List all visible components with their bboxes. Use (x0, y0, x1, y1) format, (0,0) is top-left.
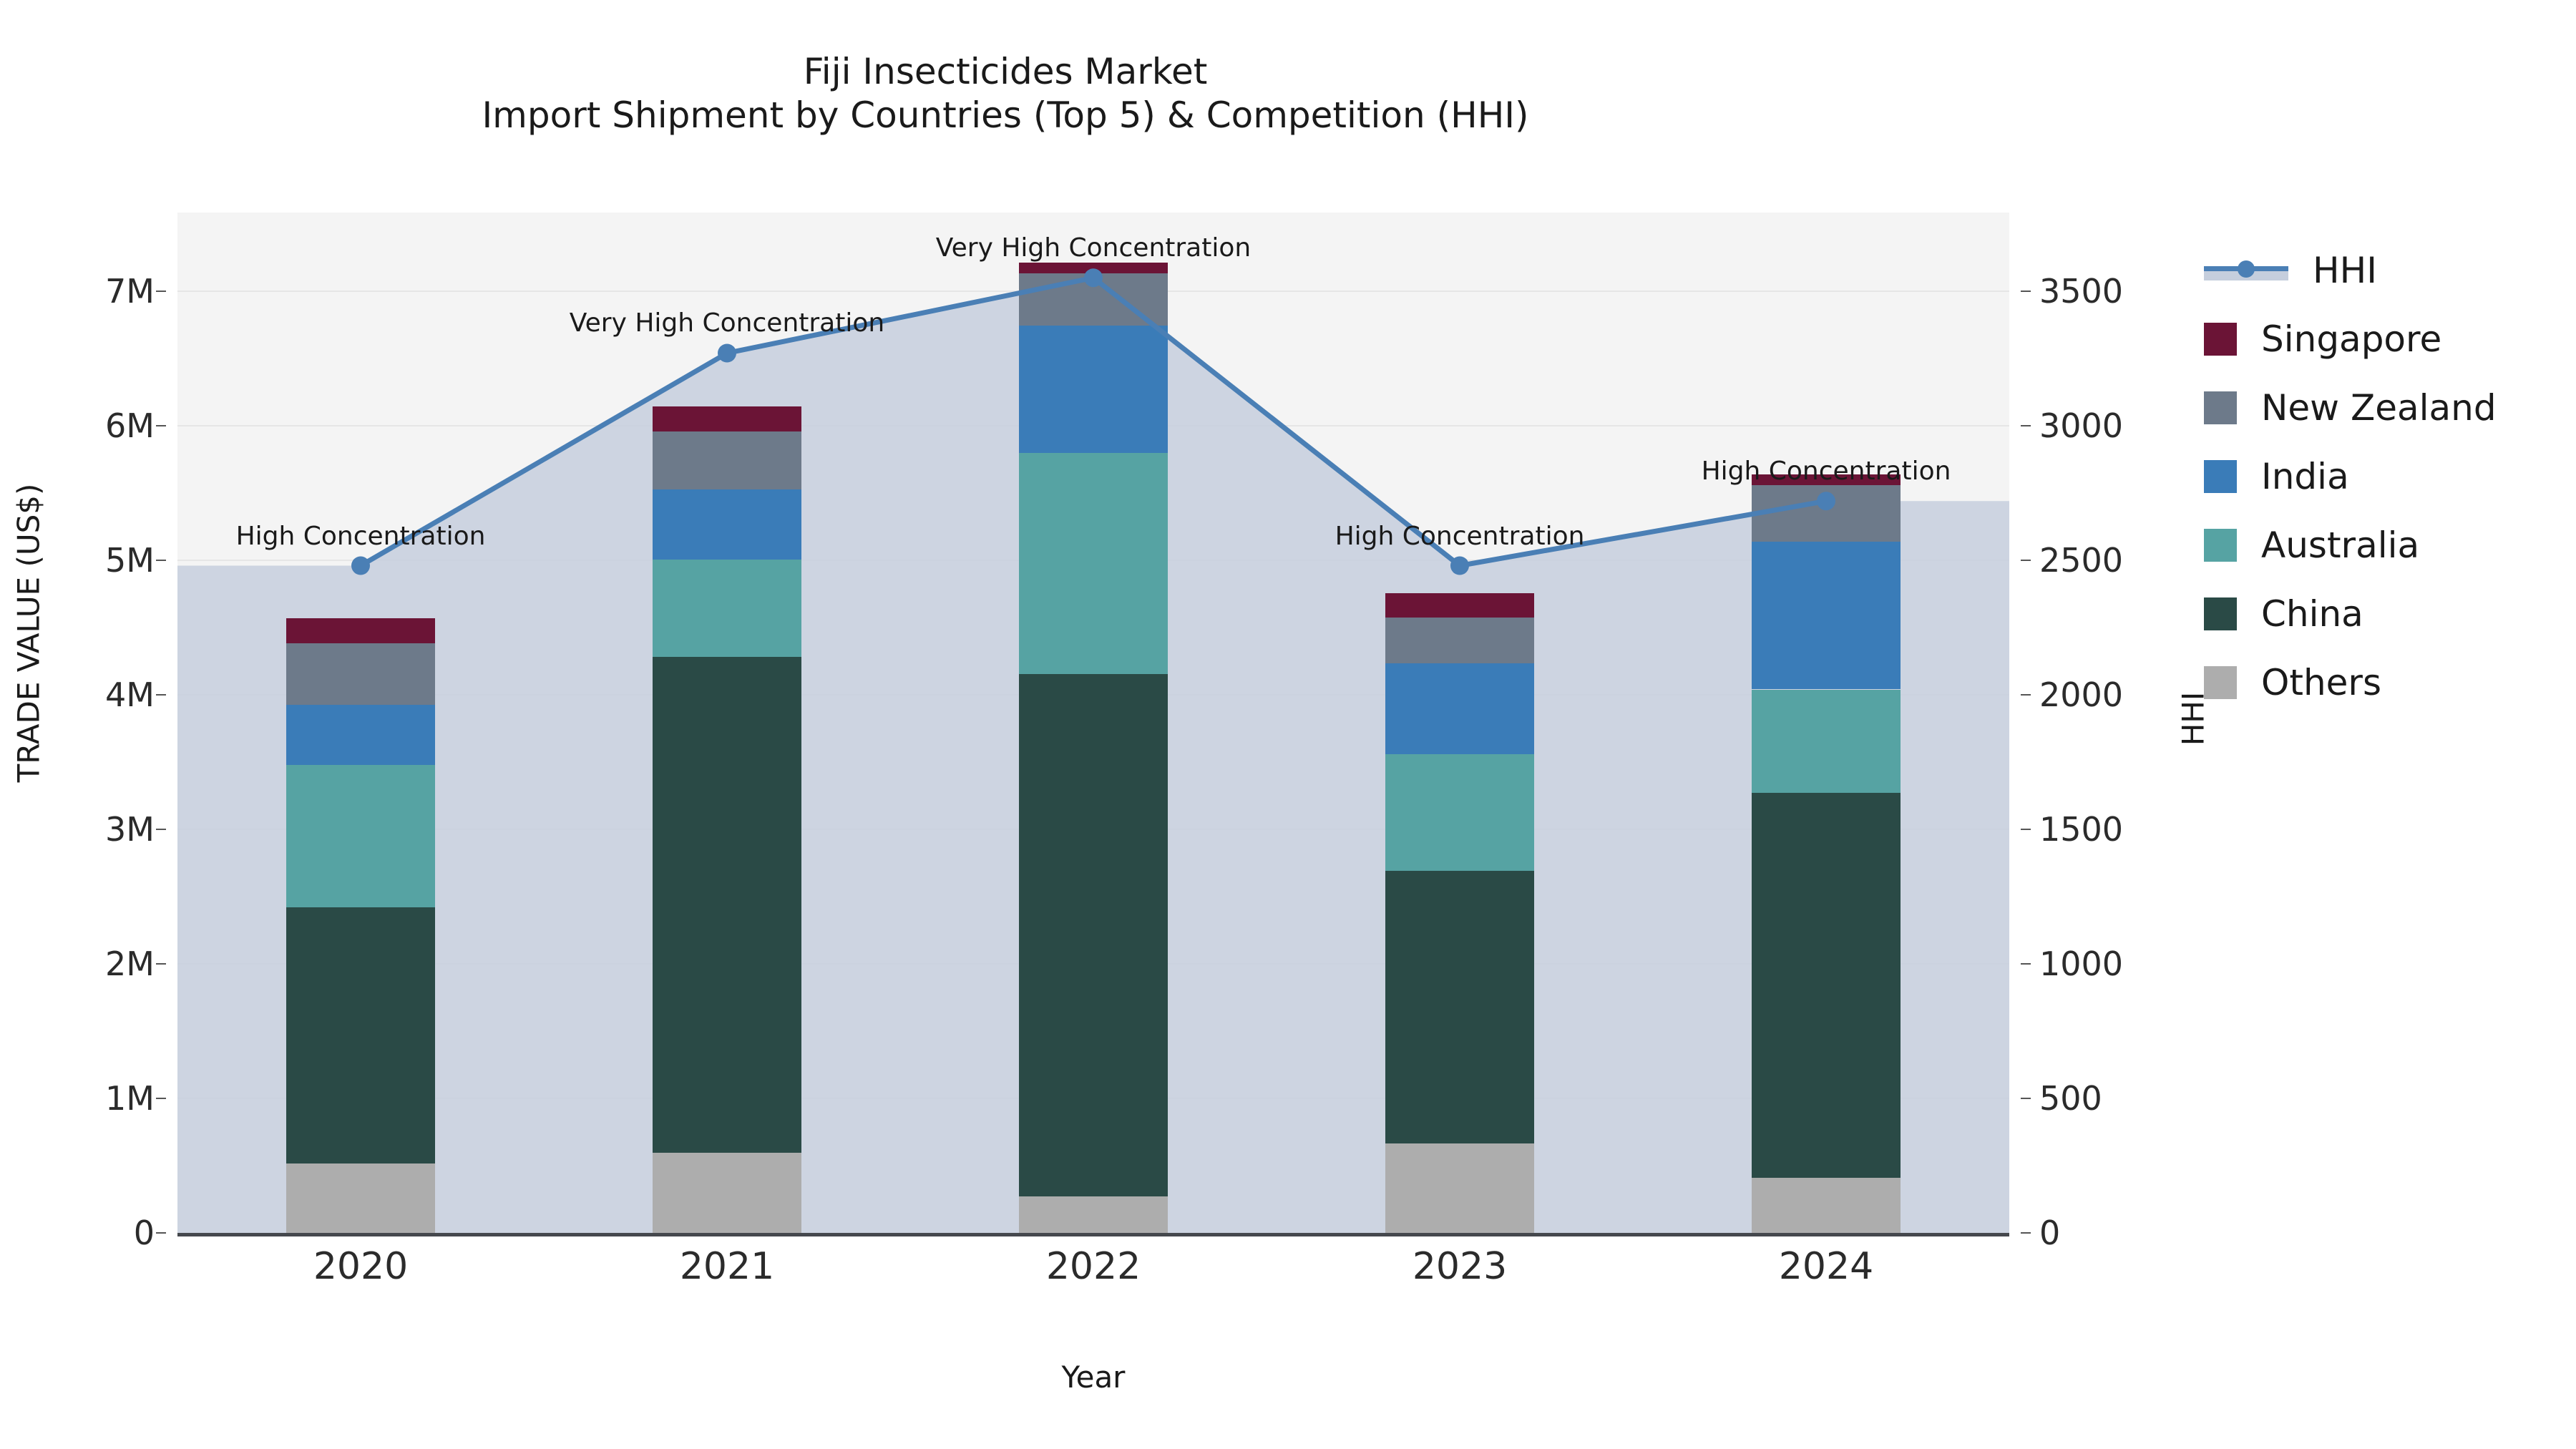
title-line-1: Fiji Insecticides Market (0, 50, 2011, 94)
y-left-tick-label: 2M (105, 945, 155, 983)
y-right-tickmark (2021, 694, 2031, 696)
legend-line-marker (2204, 254, 2288, 287)
legend-label: China (2261, 593, 2363, 635)
y-right-tickmark (2021, 291, 2031, 292)
legend-label: Others (2261, 662, 2381, 703)
legend-item-india[interactable]: India (2204, 442, 2576, 511)
y-right-tick-label: 1500 (2039, 810, 2123, 849)
y-left-tickmark (156, 1232, 166, 1234)
legend-item-others[interactable]: Others (2204, 648, 2576, 717)
legend-label: HHI (2313, 250, 2377, 291)
y-left-tick-label: 7M (105, 272, 155, 311)
y-left-tick-label: 3M (105, 810, 155, 849)
x-axis-ticks: 20202021202220232024 (177, 1245, 2009, 1302)
y-left-tickmark (156, 694, 166, 696)
x-tick-label-2023: 2023 (1413, 1245, 1507, 1288)
y-left-tick-label: 1M (105, 1079, 155, 1118)
legend-swatch (2204, 391, 2237, 424)
x-tick-label-2021: 2021 (680, 1245, 774, 1288)
legend-item-singapore[interactable]: Singapore (2204, 305, 2576, 374)
concentration-annotation: High Concentration (1702, 457, 1951, 486)
legend-swatch (2204, 323, 2237, 356)
y-left-tick-label: 6M (105, 406, 155, 445)
y-right-tick-label: 1000 (2039, 945, 2123, 983)
legend-label: India (2261, 456, 2349, 497)
y-left-tickmark (156, 829, 166, 830)
y-right-tickmark (2021, 963, 2031, 965)
chart-title: Fiji Insecticides Market Import Shipment… (0, 50, 2011, 137)
y-left-tick-label: 0 (134, 1214, 155, 1252)
concentration-annotation: High Concentration (1335, 522, 1585, 551)
y-right-tickmark (2021, 1098, 2031, 1099)
y-right-tick-label: 2500 (2039, 541, 2123, 580)
concentration-annotation: Very High Concentration (570, 308, 884, 338)
y-left-tickmark (156, 560, 166, 561)
legend-swatch (2204, 597, 2237, 630)
y-left-tickmark (156, 291, 166, 292)
y-left-tick-label: 4M (105, 675, 155, 714)
y-axis-right-ticks: 0500100015002000250030003500 (2021, 213, 2192, 1233)
y-left-tickmark (156, 963, 166, 965)
y-left-tick-label: 5M (105, 541, 155, 580)
title-line-2: Import Shipment by Countries (Top 5) & C… (0, 94, 2011, 137)
y-right-tickmark (2021, 560, 2031, 561)
y-right-tickmark (2021, 829, 2031, 830)
y-right-tick-label: 0 (2039, 1214, 2060, 1252)
legend: HHISingaporeNew ZealandIndiaAustraliaChi… (2204, 236, 2576, 717)
y-right-tickmark (2021, 425, 2031, 426)
legend-label: Singapore (2261, 318, 2441, 360)
annotation-layer: High ConcentrationVery High Concentratio… (177, 213, 2009, 1233)
legend-item-china[interactable]: China (2204, 580, 2576, 648)
concentration-annotation: High Concentration (236, 522, 486, 551)
y-right-tickmark (2021, 1232, 2031, 1234)
y-right-tick-label: 3000 (2039, 406, 2123, 445)
y-right-tick-label: 500 (2039, 1079, 2102, 1118)
x-tick-label-2024: 2024 (1779, 1245, 1873, 1288)
legend-swatch (2204, 460, 2237, 493)
y-right-tick-label: 3500 (2039, 272, 2123, 311)
y-left-tickmark (156, 425, 166, 426)
y-left-tickmark (156, 1098, 166, 1099)
y-right-tick-label: 2000 (2039, 675, 2123, 714)
legend-item-new-zealand[interactable]: New Zealand (2204, 374, 2576, 442)
x-axis-title: Year (177, 1360, 2009, 1395)
legend-swatch (2204, 666, 2237, 699)
concentration-annotation: Very High Concentration (936, 233, 1251, 263)
x-axis-spine (177, 1233, 2009, 1236)
legend-label: New Zealand (2261, 387, 2497, 429)
y-axis-left-title: TRADE VALUE (US$) (11, 462, 47, 805)
legend-swatch (2204, 529, 2237, 562)
legend-item-hhi[interactable]: HHI (2204, 236, 2576, 305)
legend-item-australia[interactable]: Australia (2204, 511, 2576, 580)
legend-label: Australia (2261, 525, 2419, 566)
x-tick-label-2022: 2022 (1046, 1245, 1141, 1288)
x-tick-label-2020: 2020 (313, 1245, 408, 1288)
